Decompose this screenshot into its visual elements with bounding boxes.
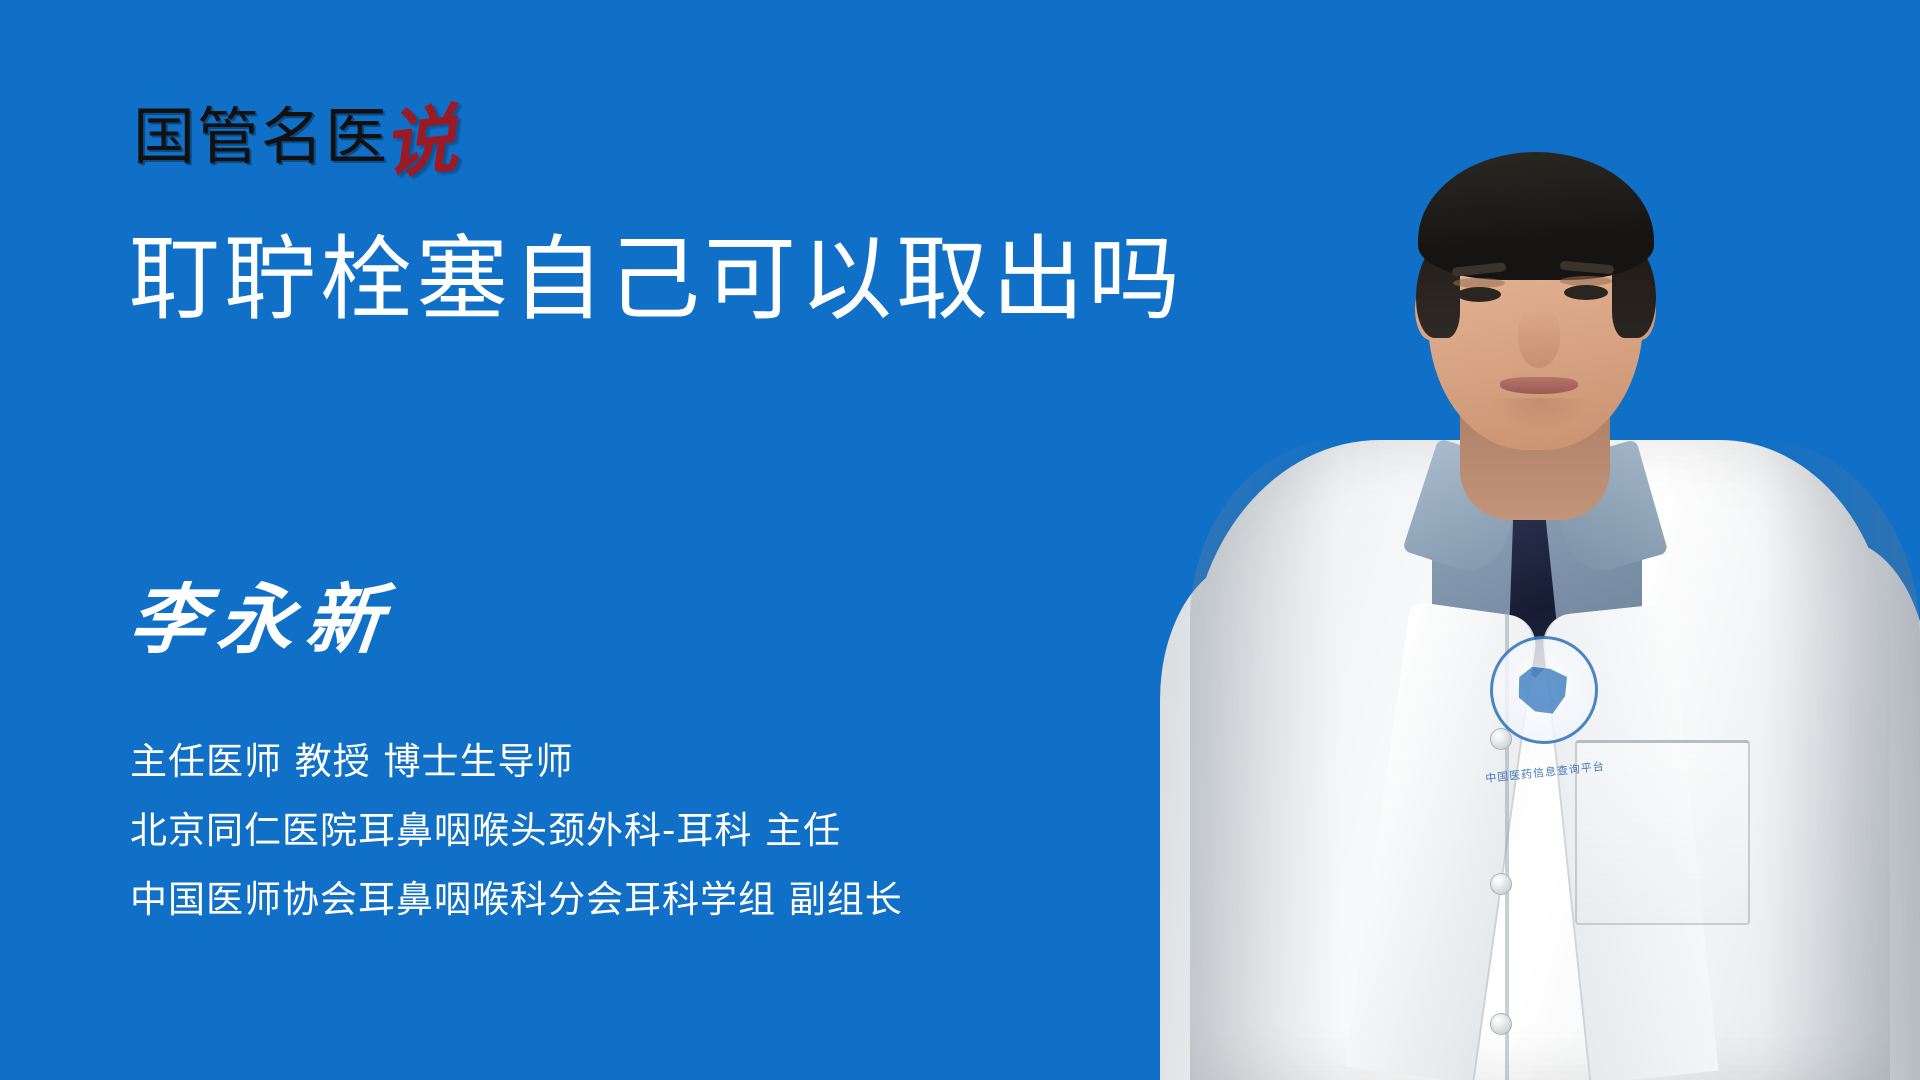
eye-right [1564, 285, 1608, 300]
slide-canvas: 国管名医 说 耵聍栓塞自己可以取出吗 李永新 主任医师 教授 博士生导师 北京同… [0, 0, 1920, 1080]
brand-logo-main-text: 国管名医 [133, 106, 389, 168]
nose [1518, 308, 1560, 368]
slide-headline: 耵聍栓塞自己可以取出吗 [128, 228, 1128, 332]
chin-shading [1490, 398, 1590, 432]
brand-logo: 国管名医 说 [133, 96, 457, 168]
coat-button-bottom [1490, 1013, 1512, 1035]
hair [1418, 152, 1654, 280]
mouth [1500, 377, 1578, 394]
lab-coat-shadow-left [1190, 440, 1340, 1080]
lab-coat-shadow-right [1760, 440, 1920, 1080]
credential-line-2: 北京同仁医院耳鼻咽喉头颈外科-耳科 主任 [130, 809, 903, 853]
eye-left [1457, 287, 1501, 302]
credential-line-3: 中国医师协会耳鼻咽喉科分会耳科学组 副组长 [130, 878, 903, 922]
badge-map-shape-icon [1504, 650, 1584, 730]
speaker-signature-name: 李永新 [126, 578, 399, 662]
speaker-credentials: 主任医师 教授 博士生导师 北京同仁医院耳鼻咽喉头颈外科-耳科 主任 中国医师协… [130, 740, 903, 922]
credential-line-1: 主任医师 教授 博士生导师 [130, 740, 903, 784]
brand-logo-accent-text: 说 [380, 108, 460, 177]
doctor-portrait: 中国医药信息查询平台 [1160, 0, 1920, 1080]
coat-button-middle [1490, 873, 1512, 895]
